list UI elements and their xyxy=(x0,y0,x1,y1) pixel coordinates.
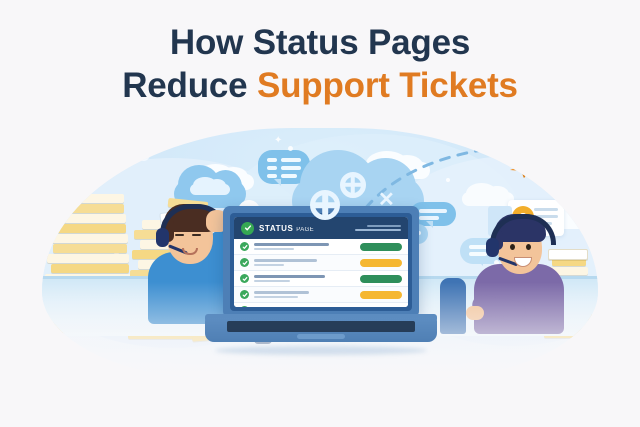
check-circle-icon xyxy=(240,242,249,251)
agent-eye xyxy=(175,234,184,236)
status-page-title-sub: PAGE xyxy=(296,227,314,233)
check-circle-icon xyxy=(240,258,249,267)
illustration-canvas: ✕ ✕ ✕ ? xyxy=(0,0,640,427)
gear-icon xyxy=(340,172,366,198)
check-circle-icon xyxy=(240,274,249,283)
status-row[interactable] xyxy=(234,271,408,287)
check-circle-icon xyxy=(240,306,249,307)
status-badge xyxy=(360,307,402,308)
status-page-screen[interactable]: STATUS PAGE xyxy=(234,217,408,307)
title-line-2-highlight: Support Tickets xyxy=(257,66,518,105)
gear-icon xyxy=(310,190,340,220)
office-chair-right xyxy=(440,278,466,334)
status-page-header-meta xyxy=(355,225,401,231)
status-row-label xyxy=(254,291,355,298)
headset-earcup xyxy=(156,228,169,247)
status-row-label xyxy=(254,259,355,266)
status-row-label xyxy=(254,275,355,282)
status-row-label xyxy=(254,243,355,250)
check-circle-icon xyxy=(241,222,254,235)
status-page-header: STATUS PAGE xyxy=(234,217,408,239)
status-row[interactable] xyxy=(234,303,408,307)
status-badge xyxy=(360,259,402,267)
agent-arm xyxy=(471,293,528,322)
cloud-icon xyxy=(102,148,150,161)
sparkle-icon: ✦ xyxy=(274,136,282,146)
status-page-rows xyxy=(234,239,408,307)
title-line-2: Reduce Support Tickets xyxy=(0,65,640,108)
status-row[interactable] xyxy=(234,239,408,255)
agent-eye xyxy=(510,244,515,250)
decorative-dot xyxy=(288,146,293,151)
plane-badge-icon: ▼ xyxy=(542,140,555,153)
happy-support-agent xyxy=(462,202,574,330)
agent-eye xyxy=(192,234,201,236)
title-line-2-plain: Reduce xyxy=(122,66,257,105)
hero-laptop-lid: STATUS PAGE xyxy=(223,206,419,318)
trackpad xyxy=(297,334,345,339)
paper-plane-icon xyxy=(528,152,560,176)
status-row[interactable] xyxy=(234,287,408,303)
hero-laptop: STATUS PAGE xyxy=(205,206,437,346)
cloud-icon xyxy=(190,184,230,195)
x-mark-icon: ✕ xyxy=(378,190,395,210)
agent-eye xyxy=(526,244,531,250)
check-circle-icon xyxy=(240,290,249,299)
page-title: How Status Pages Reduce Support Tickets xyxy=(0,22,640,107)
status-badge xyxy=(360,291,402,299)
status-page-title: STATUS PAGE xyxy=(259,224,314,233)
headset-earcup xyxy=(486,238,499,257)
status-row[interactable] xyxy=(234,255,408,271)
decorative-dot xyxy=(446,178,450,182)
agent-hand xyxy=(466,306,484,320)
status-badge xyxy=(360,275,402,283)
laptop-shadow xyxy=(215,346,427,355)
keyboard-keys xyxy=(227,321,415,332)
status-page-title-main: STATUS xyxy=(259,224,293,233)
title-line-1: How Status Pages xyxy=(0,22,640,65)
hero-laptop-keyboard xyxy=(205,318,437,342)
hero-laptop-bezel: STATUS PAGE xyxy=(230,213,412,311)
agent-torso xyxy=(474,264,564,334)
status-badge xyxy=(360,243,402,251)
